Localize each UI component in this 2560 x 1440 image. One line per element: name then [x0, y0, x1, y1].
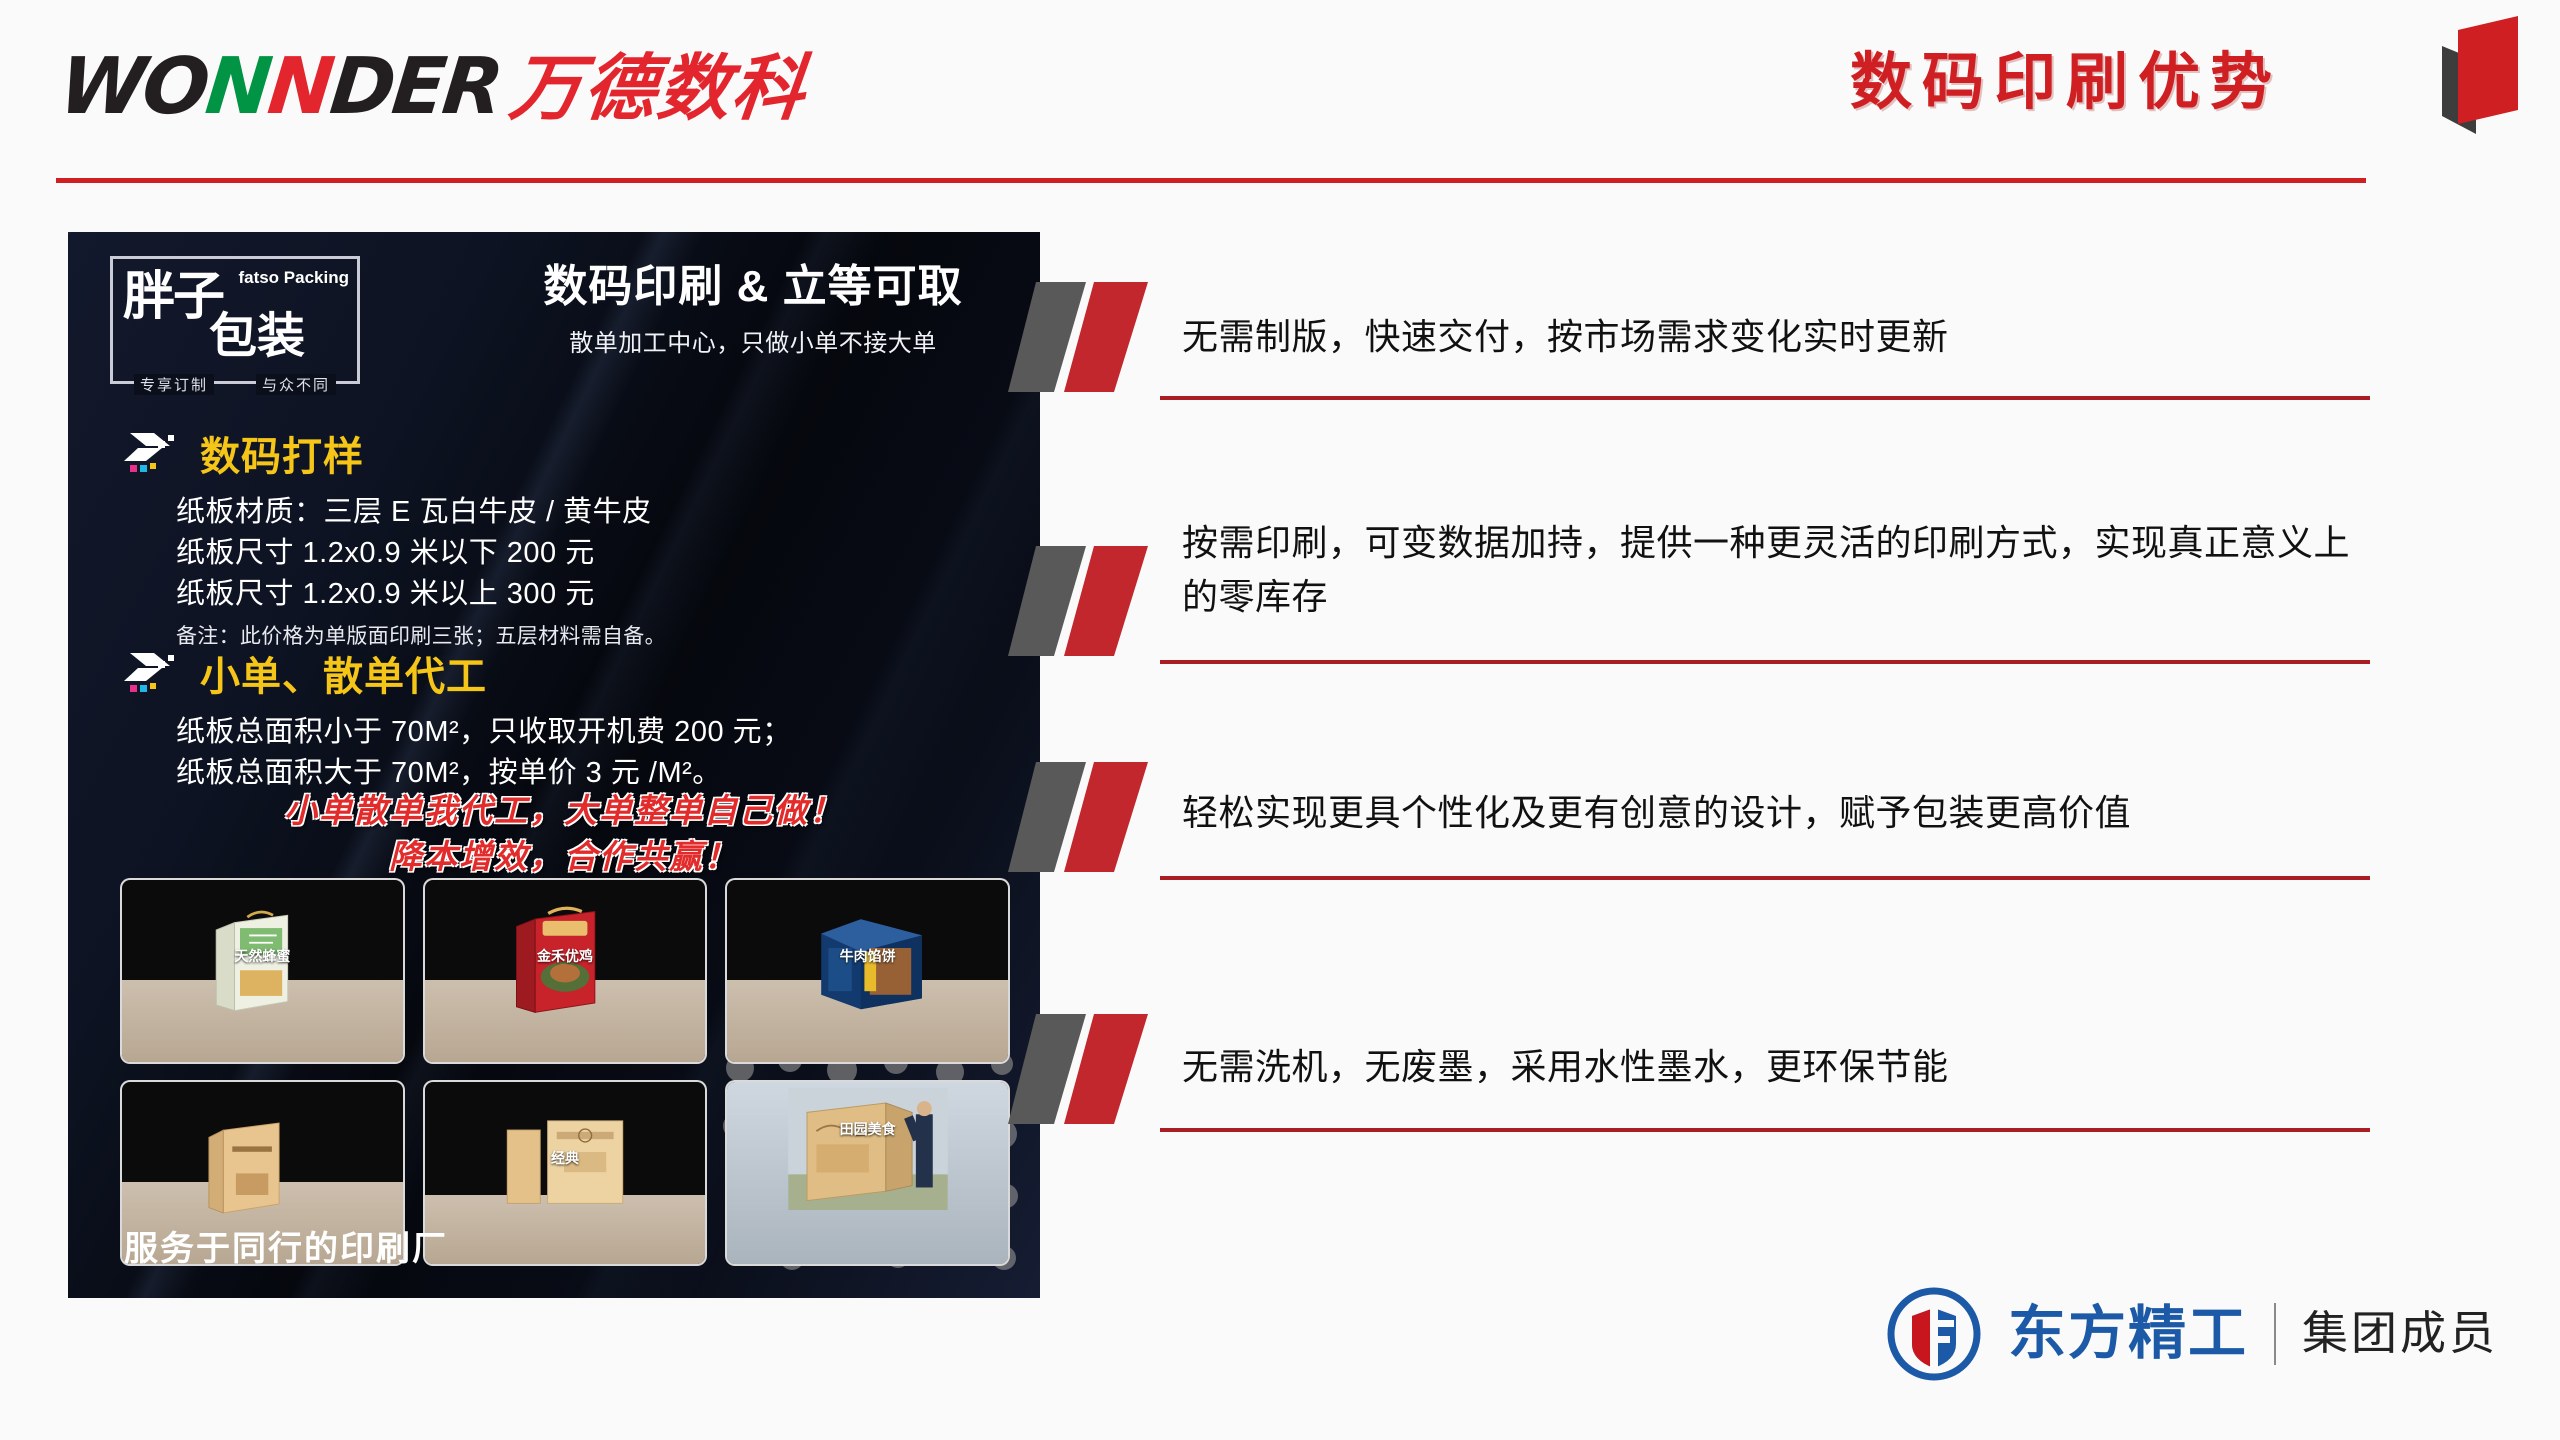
advantage-text: 轻松实现更具个性化及更有创意的设计，赋予包装更高价值 [1182, 786, 2362, 840]
folded-page-icon [2414, 8, 2524, 134]
brand-en-n-green: N [202, 42, 274, 132]
double-slash-marker-icon [1008, 280, 1198, 398]
advantage-underline [1160, 660, 2370, 664]
brand-wordmark-en: WONNDER [56, 48, 504, 126]
poster-slogan: 小单散单我代工，大单整单自己做！ 降本增效，合作共赢！ [124, 788, 1004, 879]
slogan-line-2: 降本增效，合作共赢！ [124, 834, 1004, 880]
section-line: 纸板总面积小于 70M²，只收取开机费 200 元； [176, 712, 1004, 753]
page-title: 数码印刷优势 [1850, 52, 2282, 114]
section-title: 数码打样 [200, 424, 364, 482]
footer-company-name: 东方精工 [2008, 1305, 2248, 1363]
product-label: 天然蜂蜜 [122, 949, 403, 964]
poster-section-small-order-oem: 小单、散单代工 纸板总面积小于 70M²，只收取开机费 200 元； 纸板总面积… [124, 644, 1004, 794]
tagline-right: 与众不同 [256, 374, 336, 395]
header-divider [56, 178, 2366, 183]
fatso-logo-cn: 胖子 [123, 271, 223, 323]
advantage-item: 轻松实现更具个性化及更有创意的设计，赋予包装更高价值 [1000, 748, 2400, 988]
advantage-underline [1160, 396, 2370, 400]
advantage-item: 无需洗机，无废墨，采用水性墨水，更环保节能 [1000, 988, 2400, 1228]
footer-member-label: 集团成员 [2302, 1311, 2498, 1357]
double-slash-marker-icon [1008, 760, 1198, 878]
fatso-logo-tagline: 专享订制 与众不同 [113, 374, 357, 395]
product-photo-grid: 天然蜂蜜 金禾优鸡 牛肉馅饼 [120, 878, 1010, 1266]
advantage-underline [1160, 876, 2370, 880]
chevron-arrow-icon [124, 649, 184, 697]
advantage-item: 无需制版，快速交付，按市场需求变化实时更新 [1000, 268, 2400, 508]
slogan-line-1: 小单散单我代工，大单整单自己做！ [124, 788, 1004, 834]
product-label: 金禾优鸡 [425, 949, 706, 964]
poster-section-digital-proofing: 数码打样 纸板材质：三层 E 瓦白牛皮 / 黄牛皮 纸板尺寸 1.2x0.9 米… [124, 424, 1004, 650]
advantages-list: 无需制版，快速交付，按市场需求变化实时更新 按需印刷，可变数据加持，提供一种更灵… [1000, 268, 2400, 1228]
brand-en-n-red: N [264, 42, 336, 132]
double-slash-marker-icon [1008, 544, 1198, 662]
poster-footer-text: 服务于同行的印刷厂 [124, 1221, 448, 1270]
advantage-text: 按需印刷，可变数据加持，提供一种更灵活的印刷方式，实现真正意义上的零库存 [1182, 516, 2362, 624]
tagline-left: 专享订制 [134, 374, 214, 395]
advantage-text: 无需制版，快速交付，按市场需求变化实时更新 [1182, 310, 2362, 364]
advantage-underline [1160, 1128, 2370, 1132]
brand-en-part2: DER [326, 42, 505, 132]
product-photo: 经典 [423, 1080, 708, 1266]
product-photo: 牛肉馅饼 [725, 878, 1010, 1064]
wonder-brand-logo: WONNDER 万德数科 [60, 48, 806, 126]
poster-headline: 数码印刷 & 立等可取 [498, 262, 1008, 313]
footer-divider [2274, 1303, 2276, 1365]
fatso-logo-en: fatso Packing [238, 269, 349, 286]
poster-headline-block: 数码印刷 & 立等可取 散单加工中心，只做小单不接大单 [498, 262, 1008, 358]
product-label: 牛肉馅饼 [727, 949, 1008, 964]
advantage-text: 无需洗机，无废墨，采用水性墨水，更环保节能 [1182, 1040, 2362, 1094]
product-label: 经典 [425, 1151, 706, 1166]
section-line: 纸板材质：三层 E 瓦白牛皮 / 黄牛皮 [176, 492, 1004, 533]
fatso-packing-logo: 胖子 fatso Packing 包装 专享订制 与众不同 [110, 256, 360, 384]
poster-subheadline: 散单加工中心，只做小单不接大单 [498, 323, 1008, 358]
chevron-arrow-icon [124, 429, 184, 477]
product-label: 田园美食 [727, 1122, 1008, 1137]
product-photo: 金禾优鸡 [423, 878, 708, 1064]
brand-wordmark-cn: 万德数科 [506, 53, 810, 125]
dfjg-circle-logo-icon [1886, 1286, 1982, 1382]
section-line: 纸板尺寸 1.2x0.9 米以上 300 元 [176, 574, 1004, 615]
fatso-logo-package-cn: 包装 [209, 313, 305, 361]
page-footer: 东方精工 集团成员 [1886, 1286, 2498, 1382]
section-line: 纸板尺寸 1.2x0.9 米以下 200 元 [176, 533, 1004, 574]
advantage-item: 按需印刷，可变数据加持，提供一种更灵活的印刷方式，实现真正意义上的零库存 [1000, 508, 2400, 748]
double-slash-marker-icon [1008, 1012, 1198, 1130]
page-header: WONNDER 万德数科 数码印刷优势 [0, 0, 2560, 200]
promo-poster-image: 胖子 fatso Packing 包装 专享订制 与众不同 数码印刷 & 立等可… [68, 232, 1040, 1298]
product-photo: 田园美食 [725, 1080, 1010, 1266]
section-title: 小单、散单代工 [200, 644, 487, 702]
product-photo: 天然蜂蜜 [120, 878, 405, 1064]
brand-en-part1: WO [55, 42, 211, 132]
